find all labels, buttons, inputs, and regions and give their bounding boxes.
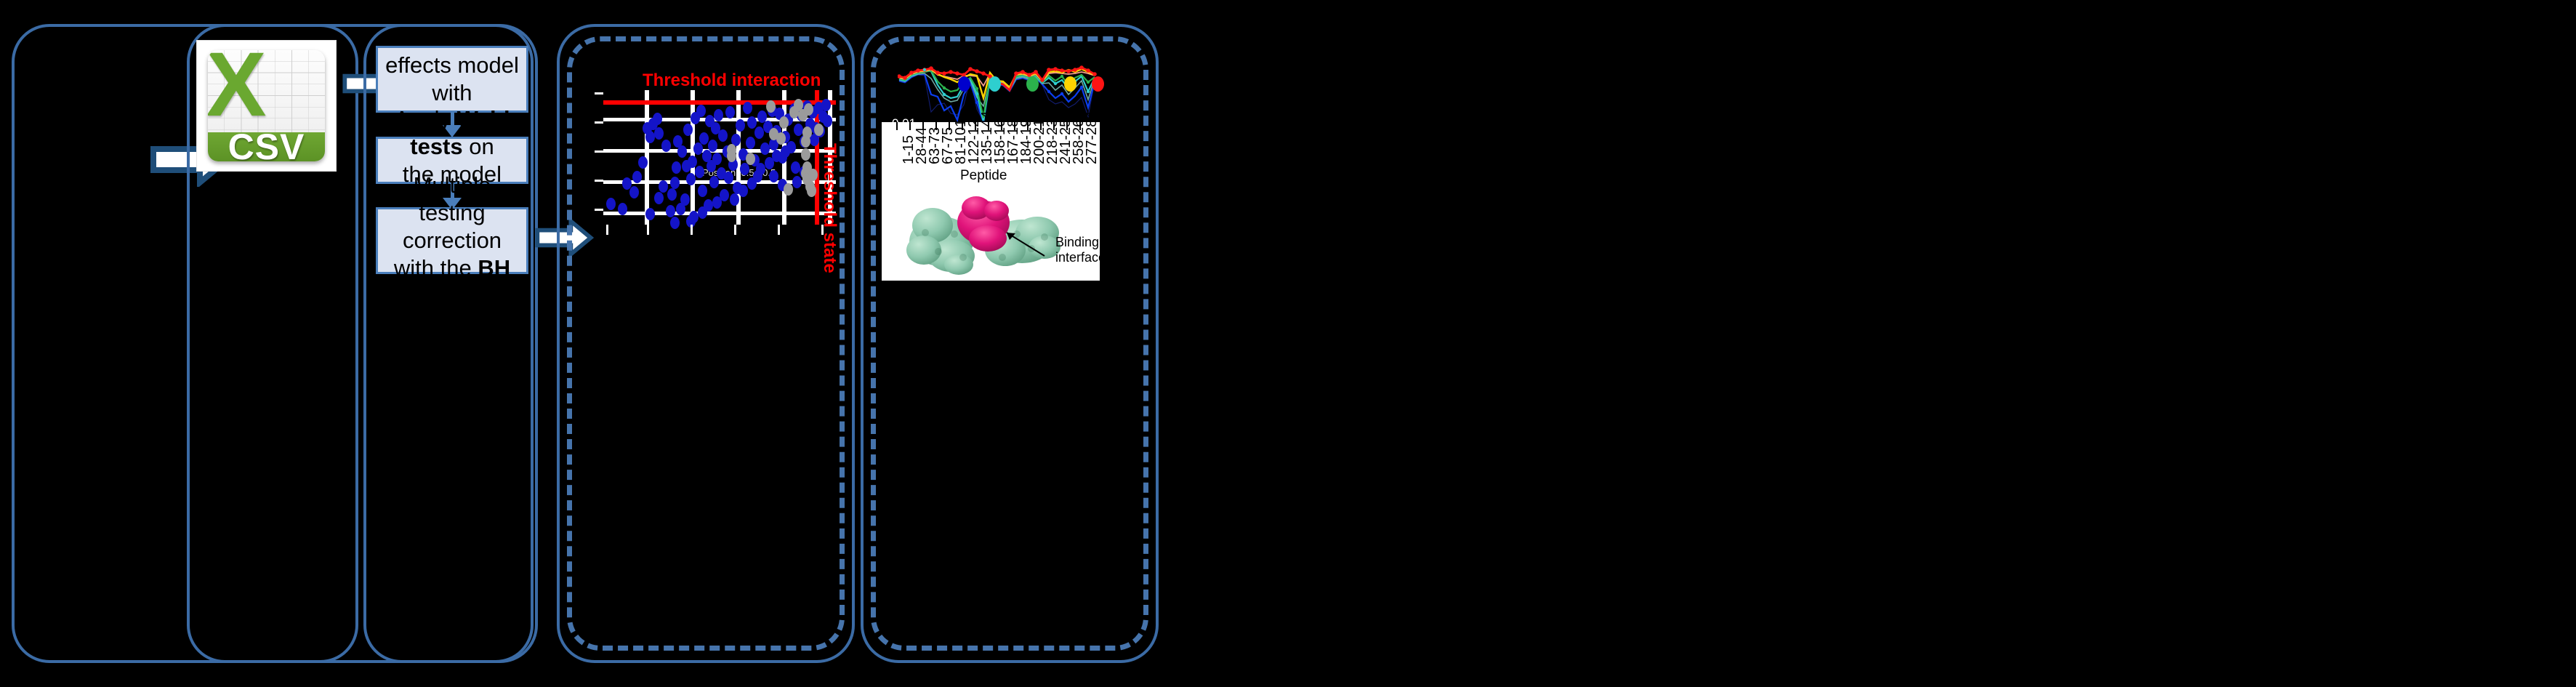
volcano-point xyxy=(654,192,664,204)
volcano-ytick xyxy=(595,180,603,182)
volcano-point xyxy=(772,150,781,162)
volcano-point xyxy=(792,176,802,188)
volcano-point-ns xyxy=(808,169,818,181)
volcano-point xyxy=(677,145,687,158)
volcano-point-ns xyxy=(769,128,778,140)
volcano-point-ns xyxy=(801,135,810,148)
volcano-point-ns xyxy=(804,103,813,116)
volcano-point xyxy=(743,102,752,114)
volcano-point xyxy=(708,140,717,152)
volcano-point xyxy=(683,124,693,136)
volcano-ytick xyxy=(595,150,603,153)
csv-icon-body: CSV xyxy=(208,50,324,162)
peptide-xtick xyxy=(896,122,898,130)
volcano-point xyxy=(666,205,675,217)
csv-label-band: CSV xyxy=(208,132,324,161)
step-bh-box: Multiple testing correction with the BH … xyxy=(376,207,528,274)
excel-x-glyph xyxy=(213,52,259,117)
volcano-point xyxy=(698,185,707,197)
volcano-point xyxy=(730,193,739,206)
volcano-xtick xyxy=(647,225,649,235)
volcano-point xyxy=(606,198,616,210)
volcano-point xyxy=(632,171,642,183)
volcano-point xyxy=(629,186,639,198)
volcano-xtick xyxy=(691,225,693,235)
volcano-point xyxy=(667,188,677,201)
volcano-point xyxy=(724,172,733,184)
figure-stage: CSV Fit a linear mixed- effects model wi… xyxy=(0,0,2576,687)
volcano-point xyxy=(696,105,706,117)
volcano-point xyxy=(659,180,668,193)
binding-interface-line1: Binding xyxy=(1055,235,1100,250)
volcano-point xyxy=(712,153,722,165)
volcano-point xyxy=(781,145,790,158)
legend-dot-green xyxy=(1026,76,1039,92)
volcano-point-ns xyxy=(784,183,793,196)
volcano-point-ns xyxy=(779,116,789,129)
volcano-point xyxy=(672,161,681,174)
legend-dot-cyan xyxy=(989,76,1001,92)
volcano-point xyxy=(638,156,648,169)
volcano-ytick xyxy=(595,121,603,124)
volcano-point-ns xyxy=(727,150,736,162)
binding-interface-line2: interface xyxy=(1055,250,1100,265)
volcano-point-ns xyxy=(801,148,810,161)
volcano-ytick xyxy=(595,209,603,211)
volcano-point xyxy=(693,142,703,155)
volcano-point xyxy=(769,170,778,182)
volcano-point xyxy=(747,116,757,129)
volcano-point xyxy=(738,185,748,197)
volcano-point xyxy=(695,166,704,178)
volcano-point xyxy=(736,119,745,132)
legend-dot-navy xyxy=(958,76,970,92)
volcano-point xyxy=(714,109,723,121)
volcano-point xyxy=(712,196,722,209)
volcano-point-ns xyxy=(766,100,776,113)
volcano-point xyxy=(794,124,803,136)
volcano-xtick xyxy=(734,225,736,235)
step-reml-box: Fit a linear mixed- effects model with R… xyxy=(376,46,528,113)
volcano-point xyxy=(718,129,728,142)
step-bh-text: Multiple testing correction with the BH … xyxy=(384,172,520,309)
csv-file-icon: CSV xyxy=(197,41,336,171)
peptide-xtick xyxy=(909,122,911,130)
volcano-point-ns xyxy=(807,185,816,197)
volcano-point xyxy=(725,106,735,118)
volcano-point xyxy=(686,173,696,185)
volcano-point xyxy=(645,208,655,220)
volcano-xtick xyxy=(606,225,608,235)
threshold-interaction-label: Threshold interaction xyxy=(643,71,821,91)
volcano-point xyxy=(746,137,755,149)
volcano-plot: Position: 0.5 - 0.5 xyxy=(603,90,836,225)
binding-interface-label: Binding interface xyxy=(1055,235,1100,265)
volcano-point xyxy=(740,163,749,175)
volcano-point-ns xyxy=(746,153,755,165)
volcano-point xyxy=(698,206,707,219)
volcano-point xyxy=(823,115,832,127)
volcano-point xyxy=(654,127,664,140)
volcano-xtick xyxy=(778,225,780,235)
volcano-point xyxy=(756,163,765,175)
volcano-point xyxy=(747,177,757,190)
csv-label-text: CSV xyxy=(228,126,305,161)
legend-dot-red xyxy=(1092,76,1104,92)
volcano-point xyxy=(653,113,662,125)
volcano-point-ns xyxy=(814,124,824,136)
volcano-point xyxy=(670,177,680,189)
volcano-point xyxy=(821,99,831,111)
legend-dot-yellow xyxy=(1064,76,1076,92)
volcano-point xyxy=(682,160,691,172)
volcano-point xyxy=(699,132,709,145)
volcano-point xyxy=(618,203,627,215)
peptide-axis-title: Peptide xyxy=(960,168,1007,184)
volcano-point xyxy=(680,193,690,206)
threshold-state-label: Threshold state xyxy=(819,143,840,273)
volcano-point xyxy=(754,126,764,139)
peptide-tick-label: 277-284 xyxy=(1084,111,1100,164)
volcano-ytick xyxy=(595,92,603,95)
volcano-point xyxy=(670,217,680,229)
volcano-point xyxy=(661,140,671,152)
